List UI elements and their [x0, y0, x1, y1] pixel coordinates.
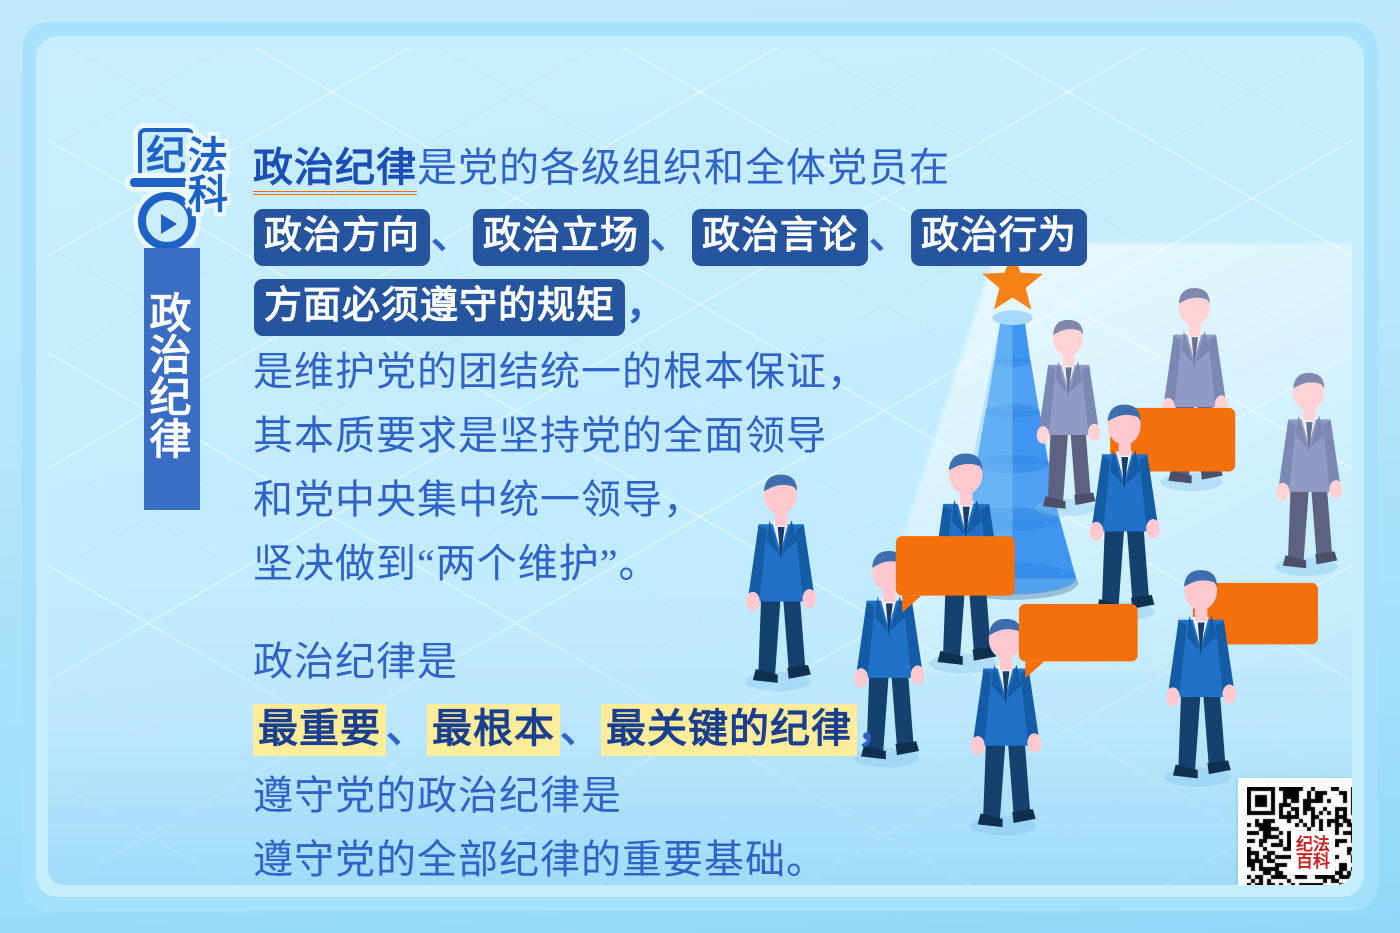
frame-inner: 纪 法科 政治纪律 政治纪律是党的各级组织和全体党员在 政治方向、政治立场、政治… — [48, 48, 1352, 885]
paragraph-gap — [253, 596, 1093, 630]
logo-char-ji: 纪 — [138, 128, 194, 184]
copy-line-10: 遵守党的政治纪律是 — [253, 764, 1093, 828]
poster-root: 纪 法科 政治纪律 政治纪律是党的各级组织和全体党员在 政治方向、政治立场、政治… — [0, 0, 1400, 933]
pill-political-speech: 政治言论 — [692, 209, 868, 266]
pill-political-direction: 政治方向 — [254, 209, 430, 266]
copy-line-6: 和党中央集中统一领导， — [253, 468, 1093, 532]
separator-4: 、 — [386, 706, 427, 751]
qr-logo-line-1: 纪法 — [1296, 836, 1330, 853]
separator-3: 、 — [869, 212, 910, 257]
play-icon — [161, 214, 177, 234]
copy-line-5: 其本质要求是坚持党的全面领导 — [253, 404, 1093, 468]
comma-2: ， — [857, 706, 898, 751]
pill-rules-to-follow: 方面必须遵守的规矩 — [254, 279, 625, 336]
pill-political-stance: 政治立场 — [473, 209, 649, 266]
separator-1: 、 — [431, 212, 472, 257]
copy-line-2: 政治方向、政治立场、政治言论、政治行为 — [253, 200, 1093, 270]
qr-code[interactable]: 纪法 百科 — [1238, 778, 1352, 885]
comma-1: ， — [626, 282, 667, 327]
highlight-most-fundamental: 最根本 — [427, 704, 560, 756]
separator-2: 、 — [650, 212, 691, 257]
pill-political-behavior: 政治行为 — [911, 209, 1087, 266]
qr-center-logo: 纪法 百科 — [1291, 831, 1335, 875]
keyword-political-discipline: 政治纪律 — [253, 145, 417, 195]
separator-5: 、 — [560, 706, 601, 751]
highlight-most-important: 最重要 — [253, 704, 386, 756]
copy-line-11: 遵守党的全部纪律的重要基础。 — [253, 828, 1093, 885]
copy-line-4: 是维护党的团结统一的根本保证， — [253, 340, 1093, 404]
copy-line-3: 方面必须遵守的规矩， — [253, 270, 1093, 340]
copy-line-1-rest: 是党的各级组织和全体党员在 — [417, 145, 950, 190]
highlight-most-critical: 最关键的纪律 — [601, 704, 857, 756]
copy-line-9: 最重要、最根本、最关键的纪律， — [253, 694, 1093, 764]
logo-char-ke: 科 — [188, 173, 228, 217]
logo-chars-fake: 法科 — [188, 138, 256, 256]
vertical-banner: 政治纪律 — [144, 248, 200, 510]
copy-line-7: 坚决做到“两个维护”。 — [253, 532, 1093, 596]
copy-line-1: 政治纪律是党的各级组织和全体党员在 — [253, 136, 1093, 200]
main-copy: 政治纪律是党的各级组织和全体党员在 政治方向、政治立场、政治言论、政治行为 方面… — [253, 136, 1093, 885]
qr-logo-line-2: 百科 — [1296, 853, 1330, 870]
copy-line-8: 政治纪律是 — [253, 630, 1093, 694]
qr-grid: 纪法 百科 — [1247, 787, 1352, 885]
brand-logo: 纪 法科 政治纪律 — [126, 128, 256, 448]
